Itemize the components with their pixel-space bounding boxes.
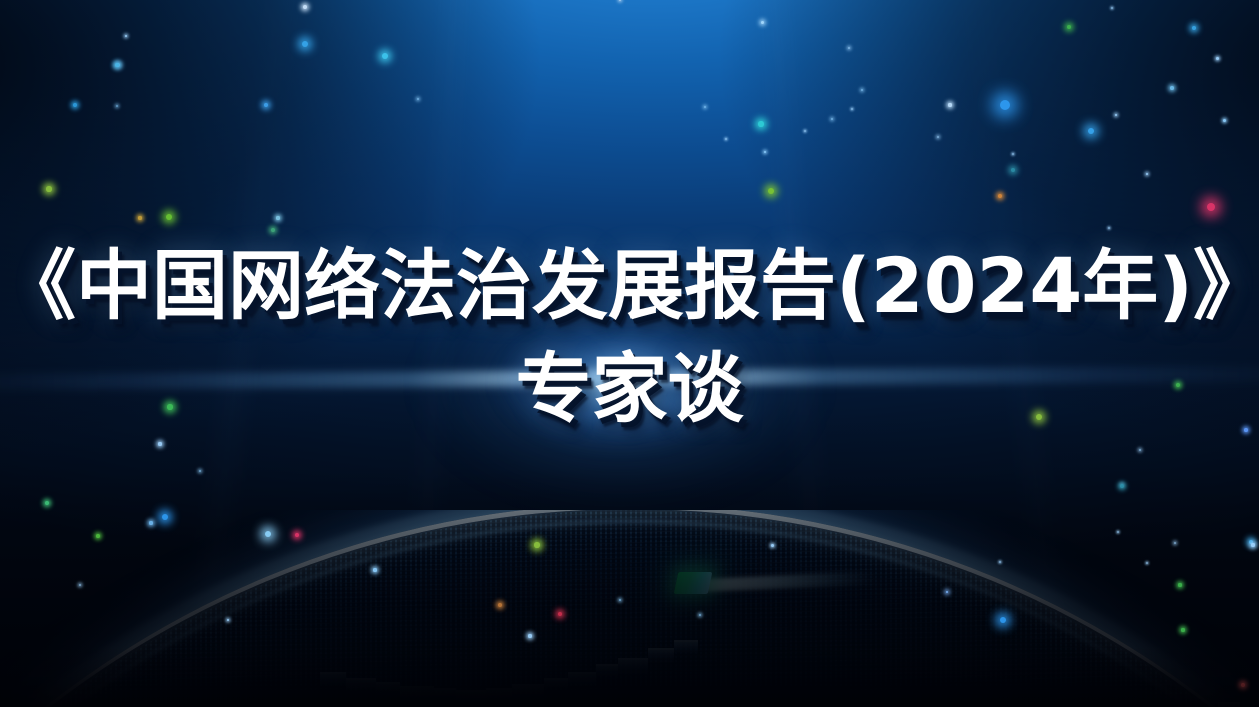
particle-dot <box>831 118 833 120</box>
particle-dot <box>1012 153 1014 155</box>
particle-dot <box>1088 128 1095 135</box>
particle-dot <box>1223 119 1226 122</box>
green-accent-marker <box>674 572 713 594</box>
particle-dot <box>1011 168 1016 173</box>
particle-dot <box>761 21 764 24</box>
particle-dot <box>1000 100 1010 110</box>
title-card-stage: 《中国网络法治发展报告(2024年)》 专家谈 <box>0 0 1259 707</box>
particle-dot <box>1216 57 1219 60</box>
particle-dot <box>1115 114 1118 117</box>
particle-dot <box>46 186 51 191</box>
particle-dot <box>1192 26 1197 31</box>
particle-dot <box>704 106 706 108</box>
particle-dot <box>1207 203 1216 212</box>
particle-dot <box>158 442 161 445</box>
particle-dot <box>764 151 767 154</box>
particle-dot <box>998 194 1002 198</box>
particle-dot <box>768 188 774 194</box>
particle-dot <box>276 216 279 219</box>
bottom-fade <box>0 647 1259 707</box>
particle-dot <box>115 63 119 67</box>
particle-dot <box>804 130 806 132</box>
particle-dot <box>417 98 419 100</box>
particle-dot <box>116 63 120 67</box>
particle-dot <box>1146 173 1149 176</box>
particle-dot <box>1120 484 1124 488</box>
series-subtitle-line: 专家谈 <box>0 349 1259 430</box>
particle-dot <box>302 41 308 47</box>
particle-dot <box>73 103 77 107</box>
particle-dot <box>851 108 853 110</box>
particle-dot <box>1111 7 1113 9</box>
particle-dot <box>861 89 863 91</box>
particle-dot <box>619 0 621 1</box>
particle-dot <box>1108 227 1110 229</box>
particle-dot <box>382 53 388 59</box>
particle-dot <box>303 5 307 9</box>
title-block: 《中国网络法治发展报告(2024年)》 专家谈 <box>0 246 1259 429</box>
particle-dot <box>1139 449 1141 451</box>
particle-dot <box>125 35 128 38</box>
particle-dot <box>937 136 939 138</box>
particle-dot <box>138 216 141 219</box>
particle-dot <box>1067 25 1071 29</box>
particle-dot <box>848 47 850 49</box>
particle-dot <box>725 138 727 140</box>
particle-dot <box>1170 86 1174 90</box>
particle-dot <box>758 121 763 126</box>
report-title-line: 《中国网络法治发展报告(2024年)》 <box>0 246 1259 327</box>
particle-dot <box>1121 484 1123 486</box>
particle-dot <box>264 103 269 108</box>
particle-dot <box>166 214 172 220</box>
particle-dot <box>271 228 275 232</box>
particle-dot <box>199 470 201 472</box>
particle-dot <box>948 103 951 106</box>
particle-dot <box>45 501 49 505</box>
particle-dot <box>116 105 118 107</box>
